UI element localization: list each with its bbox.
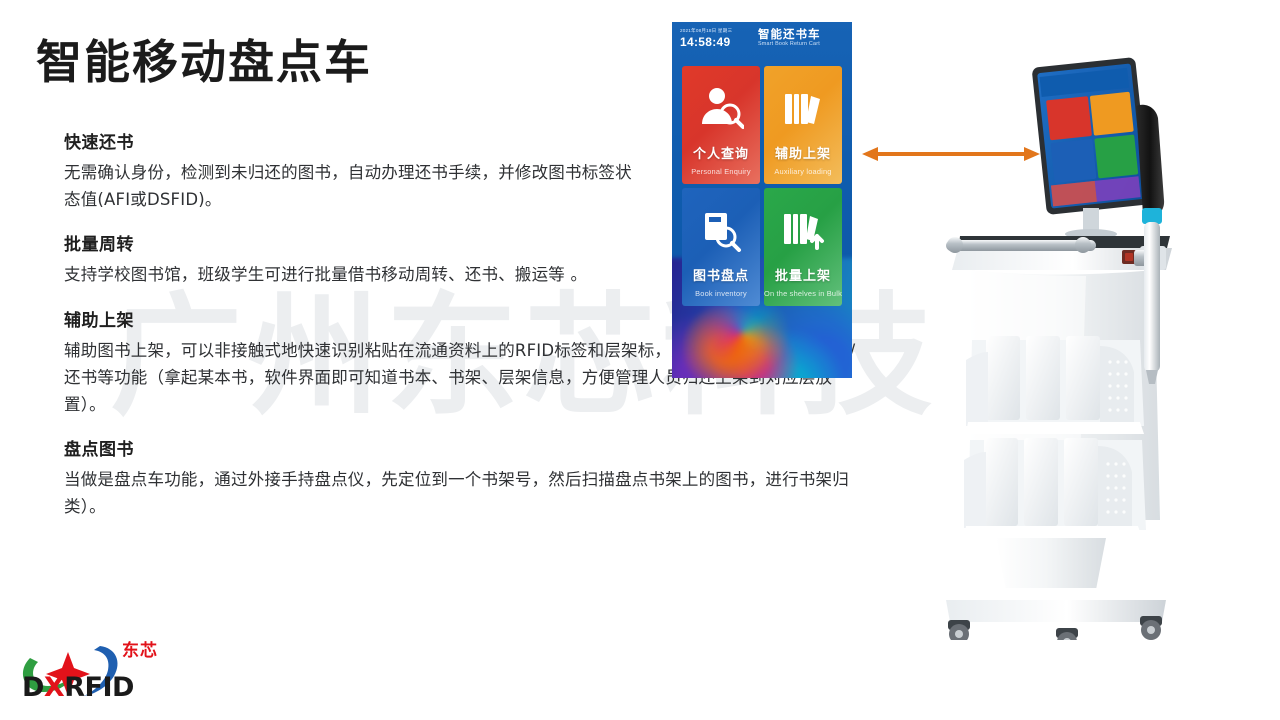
books-upload-icon xyxy=(764,204,842,256)
books-shelf-icon xyxy=(764,82,842,134)
tile-label-cn: 批量上架 xyxy=(764,265,842,284)
kiosk-tile-book-inventory[interactable]: 图书盘点 Book inventory xyxy=(682,188,760,306)
kiosk-tile-personal-enquiry[interactable]: 个人查询 Personal Enquiry xyxy=(682,66,760,184)
kiosk-header: 2021年08月18日 星期三 14:58:49 智能还书车 Smart Boo… xyxy=(672,22,852,64)
kiosk-date: 2021年08月18日 星期三 xyxy=(680,28,732,34)
tile-label-cn: 图书盘点 xyxy=(682,265,760,284)
cart-shelf-lower xyxy=(964,438,1146,538)
cart-shelf-upper xyxy=(966,336,1144,434)
tile-label-en: On the shelves in Bulk xyxy=(764,289,842,298)
sync-double-arrow xyxy=(862,146,1040,162)
section-heading: 盘点图书 xyxy=(64,435,864,460)
book-cart-illustration xyxy=(900,40,1230,640)
book-search-icon xyxy=(682,204,760,256)
logo-wordmark: DXRFID xyxy=(22,672,134,703)
kiosk-tile-bulk-shelving[interactable]: 批量上架 On the shelves in Bulk xyxy=(764,188,842,306)
cart-monitor xyxy=(1032,57,1151,239)
tile-label-cn: 辅助上架 xyxy=(764,143,842,162)
person-search-icon xyxy=(682,82,760,134)
tile-label-en: Personal Enquiry xyxy=(682,167,760,176)
cart-base xyxy=(946,588,1166,640)
page-title: 智能移动盘点车 xyxy=(36,26,372,92)
company-logo: 东芯 DXRFID xyxy=(14,628,164,708)
tile-label-en: Book inventory xyxy=(682,289,760,298)
tile-label-en: Auxiliary loading xyxy=(764,167,842,176)
logo-brand-cn: 东芯 xyxy=(122,636,158,661)
kiosk-title-cn: 智能还书车 xyxy=(758,26,821,42)
cart-top-deck xyxy=(946,236,1172,270)
kiosk-tile-auxiliary-loading[interactable]: 辅助上架 Auxiliary loading xyxy=(764,66,842,184)
tile-label-cn: 个人查询 xyxy=(682,143,760,162)
kiosk-screen-mockup: 2021年08月18日 星期三 14:58:49 智能还书车 Smart Boo… xyxy=(672,22,852,378)
section-body: 支持学校图书馆，班级学生可进行批量借书移动周转、还书、搬运等 。 xyxy=(64,262,634,289)
kiosk-clock: 14:58:49 xyxy=(680,35,730,49)
kiosk-tile-grid: 个人查询 Personal Enquiry 辅助上架 Auxiliary loa… xyxy=(682,66,842,306)
feature-section: 盘点图书 当做是盘点车功能，通过外接手持盘点仪，先定位到一个书架号，然后扫描盘点… xyxy=(64,435,864,520)
kiosk-title-en: Smart Book Return Cart xyxy=(758,41,820,47)
section-body: 无需确认身份，检测到未归还的图书，自动办理还书手续，并修改图书标签状态值(AFI… xyxy=(64,160,634,213)
section-body: 当做是盘点车功能，通过外接手持盘点仪，先定位到一个书架号，然后扫描盘点书架上的图… xyxy=(64,467,864,520)
